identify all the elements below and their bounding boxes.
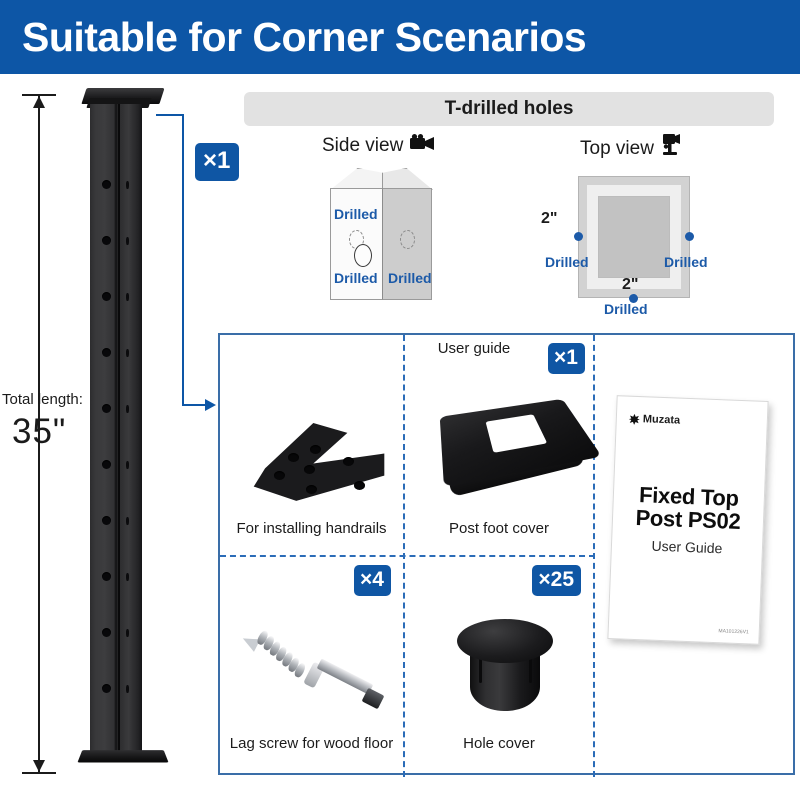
bracket-hole bbox=[306, 485, 317, 494]
dimension-arrow-up-icon bbox=[33, 96, 45, 108]
part-quantity-badge: ×4 bbox=[354, 565, 391, 596]
screw-shank bbox=[317, 658, 374, 694]
corner-bracket-plate-icon bbox=[248, 413, 390, 505]
page-title: Suitable for Corner Scenarios bbox=[0, 14, 586, 61]
part-caption: Lag screw for wood floor bbox=[220, 735, 403, 752]
post-corner-edge bbox=[118, 104, 120, 754]
bracket-hole bbox=[274, 471, 285, 480]
header-banner: Suitable for Corner Scenarios bbox=[0, 0, 800, 74]
bracket-hole bbox=[354, 481, 365, 490]
bracket-body bbox=[248, 403, 390, 515]
top-view-inner-square bbox=[598, 196, 670, 278]
side-view-diagram: Drilled Drilled Drilled bbox=[322, 166, 440, 302]
post-quantity-badge: ×1 bbox=[195, 143, 239, 181]
leader-segment-top bbox=[156, 114, 184, 116]
guide-title: Fixed Top Post PS02 bbox=[613, 482, 765, 534]
total-length-value: 35" bbox=[12, 412, 66, 452]
top-view-drilled-label: Drilled bbox=[664, 254, 708, 270]
bracket-hole bbox=[288, 453, 299, 462]
post-hole bbox=[102, 516, 111, 525]
part-caption: Hole cover bbox=[405, 735, 593, 752]
post-side-hole bbox=[126, 461, 129, 469]
post-side-hole bbox=[126, 293, 129, 301]
post-side-hole bbox=[126, 685, 129, 693]
post-side-hole bbox=[126, 181, 129, 189]
top-view-drilled-dot bbox=[685, 232, 694, 241]
side-view-drilled-hole bbox=[354, 244, 372, 267]
post-hole bbox=[102, 684, 111, 693]
side-view-label-group: Side view bbox=[322, 134, 436, 158]
dimension-arrow-down-icon bbox=[33, 760, 45, 772]
tdrilled-section-header: T-drilled holes bbox=[244, 92, 774, 126]
guide-title-line2: Post PS02 bbox=[613, 505, 764, 534]
side-view-drilled-label: Drilled bbox=[388, 270, 432, 286]
leader-segment-vertical bbox=[182, 114, 184, 406]
video-camera-icon bbox=[410, 134, 436, 158]
side-view-label: Side view bbox=[322, 135, 403, 157]
part-caption: For installing handrails bbox=[220, 520, 403, 537]
user-guide-sheet: Muzata Fixed Top Post PS02 User Guide MA… bbox=[607, 395, 768, 645]
top-view-drilled-label: Drilled bbox=[604, 301, 648, 317]
plug-cap bbox=[457, 619, 553, 663]
infographic-root: Suitable for Corner Scenarios Total leng… bbox=[0, 0, 800, 800]
bracket-hole bbox=[343, 457, 354, 466]
part-cell-post-foot-cover: ×1 Post foot cover bbox=[405, 335, 593, 555]
top-view-dimension-left: 2" bbox=[541, 210, 557, 228]
part-cell-handrail-bracket: For installing handrails bbox=[220, 335, 403, 555]
post-side-hole bbox=[126, 517, 129, 525]
post-hole bbox=[102, 572, 111, 581]
tdrilled-section-title: T-drilled holes bbox=[445, 98, 574, 120]
post-illustration bbox=[60, 88, 175, 780]
top-view-drilled-dot bbox=[574, 232, 583, 241]
part-caption: Post foot cover bbox=[405, 520, 593, 537]
bracket-hole bbox=[304, 465, 315, 474]
top-view-label: Top view bbox=[580, 138, 654, 160]
post-hole bbox=[102, 628, 111, 637]
post-side-hole bbox=[126, 405, 129, 413]
post-hole bbox=[102, 348, 111, 357]
top-view-drilled-label: Drilled bbox=[545, 254, 589, 270]
side-view-top-right-face bbox=[382, 168, 433, 190]
muzata-brand-text: Muzata bbox=[643, 413, 681, 426]
part-cell-hole-cover: ×25 Hole cover bbox=[405, 557, 593, 775]
post-base-plate bbox=[77, 750, 168, 762]
post-foot-cover-icon bbox=[443, 387, 585, 507]
leader-arrow-icon bbox=[205, 399, 216, 411]
post-hole bbox=[102, 460, 111, 469]
post-hole bbox=[102, 180, 111, 189]
part-quantity-badge: ×25 bbox=[532, 565, 581, 596]
top-view-dimension-bottom: 2" bbox=[622, 276, 638, 294]
post-body bbox=[90, 104, 142, 754]
side-view-drilled-label: Drilled bbox=[334, 206, 378, 222]
post-side-hole bbox=[126, 629, 129, 637]
post-side-hole bbox=[126, 573, 129, 581]
guide-doc-code: MA101226V1 bbox=[718, 628, 749, 635]
post-hole bbox=[102, 292, 111, 301]
muzata-mark-icon bbox=[629, 413, 640, 424]
bracket-hole bbox=[310, 445, 321, 454]
side-view-dashed-hole bbox=[400, 230, 415, 249]
post-side-hole bbox=[126, 237, 129, 245]
post-side-hole bbox=[126, 349, 129, 357]
part-cell-lag-screw: ×4 Lag screw for wood floor bbox=[220, 557, 403, 775]
part-caption-user-guide: User guide bbox=[373, 340, 575, 357]
muzata-logo: Muzata bbox=[629, 413, 681, 427]
guide-subtitle: User Guide bbox=[612, 536, 763, 558]
side-view-top-left-face bbox=[330, 168, 383, 190]
post-hole bbox=[102, 236, 111, 245]
movie-projector-icon bbox=[661, 134, 681, 164]
post-hole bbox=[102, 404, 111, 413]
top-view-label-group: Top view bbox=[580, 134, 681, 164]
lag-screw-icon bbox=[242, 627, 392, 723]
side-view-drilled-label: Drilled bbox=[334, 270, 378, 286]
hole-cover-plug-icon bbox=[457, 619, 553, 725]
